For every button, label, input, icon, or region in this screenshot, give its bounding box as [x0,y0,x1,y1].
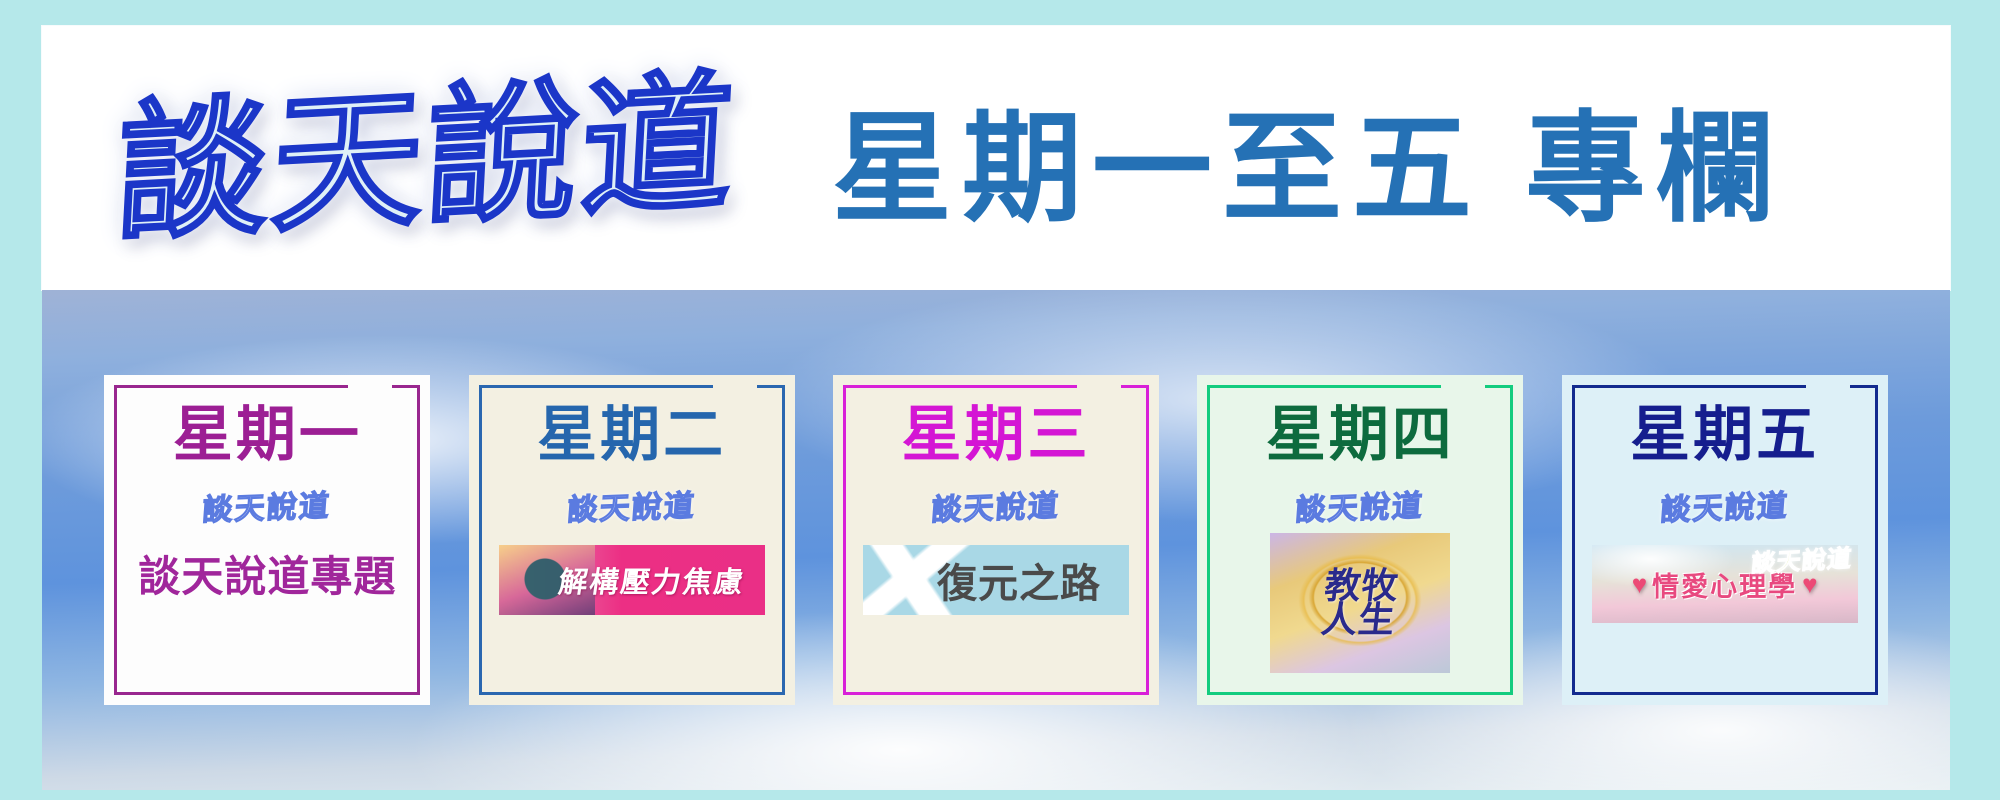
banner-title: 教牧 人生 [1320,569,1401,637]
card-frame-gap [348,382,392,389]
card-brand-logo: 談天說道 [202,481,333,529]
day-card-wednesday[interactable]: 星期三 談天說道 復元之路 [833,375,1159,705]
card-brand-logo: 談天說道 [566,481,697,529]
program-banner: 復元之路 [863,545,1129,615]
day-label: 星期五 [1630,405,1819,465]
card-brand-logo: 談天說道 [930,481,1061,529]
card-brand-logo: 談天說道 [1659,481,1790,529]
day-card-monday[interactable]: 星期一 談天說道 談天說道專題 [104,375,430,705]
brand-logo-text: 談天說道 [114,67,740,249]
page-title: 星期一至五 專欄 [812,71,1950,245]
day-label: 星期四 [1266,405,1455,465]
card-subtitle: 談天說道專題 [138,543,396,604]
program-banner: 教牧 人生 [1270,533,1450,673]
card-brand-logo: 談天說道 [1295,481,1426,529]
day-card-thursday[interactable]: 星期四 談天說道 教牧 人生 [1197,375,1523,705]
banner-title: 解構壓力焦慮 [556,559,748,601]
heart-icon: ♥ [1632,569,1647,600]
day-label: 星期一 [173,405,362,465]
card-frame-gap [1806,382,1850,389]
day-card-friday[interactable]: 星期五 談天說道 ♥ 情愛心理學 ♥ 談天說道 [1562,375,1888,705]
day-card-list: 星期一 談天說道 談天說道專題 星期二 談天說道 解構壓力焦慮 星期三 [42,290,1950,790]
brand-logo: 談天說道 [42,26,812,290]
card-frame-gap [1077,382,1121,389]
banner-title: 復元之路 [937,551,1101,609]
day-label: 星期二 [537,405,726,465]
day-card-tuesday[interactable]: 星期二 談天說道 解構壓力焦慮 [469,375,795,705]
day-label: 星期三 [901,405,1090,465]
card-frame-gap [1441,382,1485,389]
sky-background: 星期一 談天說道 談天說道專題 星期二 談天說道 解構壓力焦慮 星期三 [42,290,1950,790]
program-banner: ♥ 情愛心理學 ♥ 談天說道 [1592,545,1858,623]
banner-brand-logo: 談天說道 [1750,545,1854,579]
poster-root: 談天說道 星期一至五 專欄 星期一 談天說道 談天說道專題 星期二 談天說道 [0,0,2000,800]
program-banner: 解構壓力焦慮 [499,545,765,615]
banner-title-line2: 人生 [1319,599,1397,641]
card-frame-gap [713,382,757,389]
header-panel: 談天說道 星期一至五 專欄 [42,26,1950,290]
